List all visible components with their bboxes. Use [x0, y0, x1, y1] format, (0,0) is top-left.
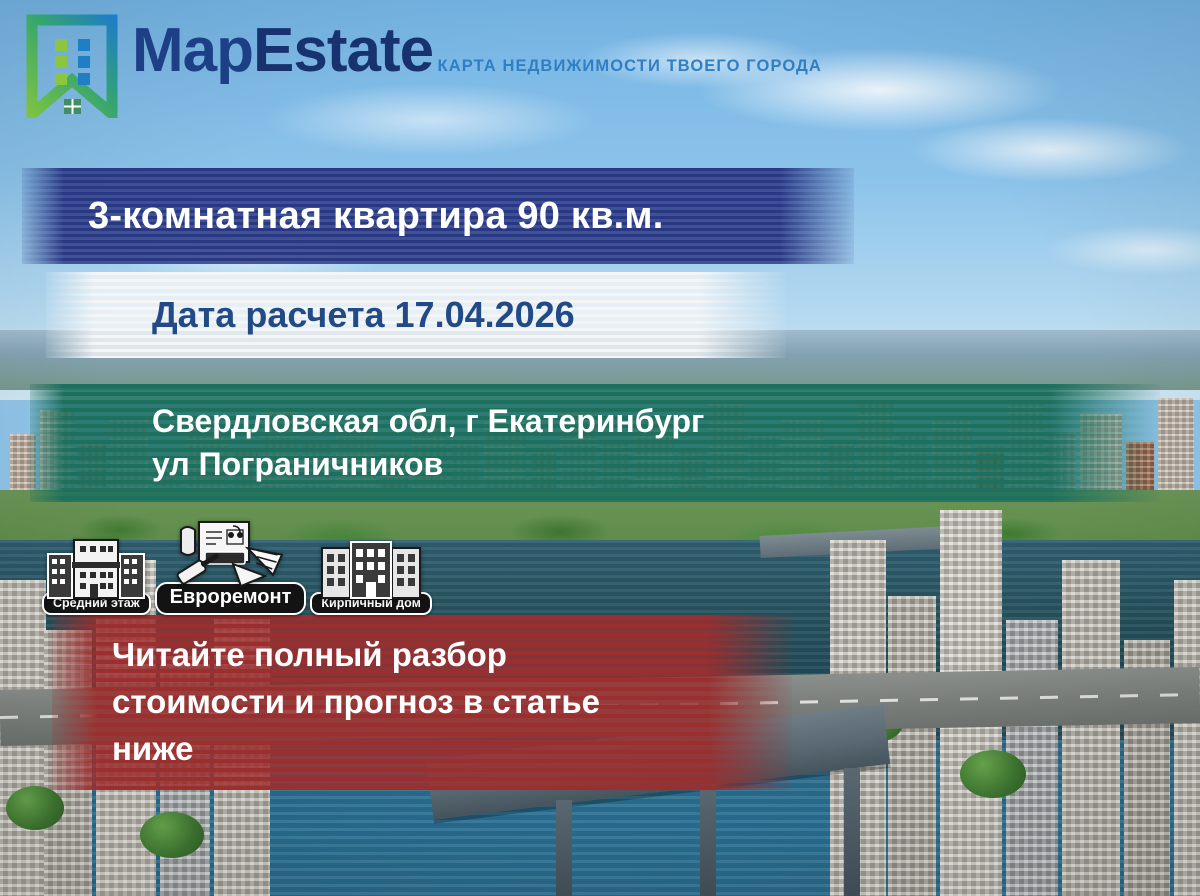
promo-card: MapEstate КАРТА НЕДВИЖИМОСТИ ТВОЕГО ГОРО…: [0, 0, 1200, 896]
badge-renovation[interactable]: Евроремонт: [155, 518, 307, 615]
cta-banner-text: Читайте полный разбор стоимости и прогно…: [112, 632, 600, 773]
rooms-banner-text: 3-комнатная квартира 90 кв.м.: [88, 195, 663, 238]
bookmark-building-icon: [26, 14, 118, 123]
badge-brick-house[interactable]: Кирпичный дом: [310, 536, 431, 615]
feature-badges: Средний этаж: [42, 518, 432, 615]
brand-logo[interactable]: MapEstate КАРТА НЕДВИЖИМОСТИ ТВОЕГО ГОРО…: [26, 14, 822, 123]
address-banner: Свердловская обл, г Екатеринбург ул Погр…: [30, 384, 1160, 502]
address-banner-text: Свердловская обл, г Екатеринбург ул Погр…: [152, 400, 704, 486]
brand-name-part2: Estate: [253, 16, 433, 85]
cta-banner: Читайте полный разбор стоимости и прогно…: [52, 615, 792, 790]
rooms-banner: 3-комнатная квартира 90 кв.м.: [22, 168, 854, 264]
brick-house-icon: [319, 536, 423, 602]
brand-name-part1: Map: [132, 16, 253, 85]
renovation-tools-icon: [173, 518, 289, 592]
date-banner: Дата расчета 17.04.2026: [46, 272, 786, 358]
brand-name: MapEstate: [132, 16, 433, 85]
date-banner-text: Дата расчета 17.04.2026: [152, 294, 575, 336]
brand-tagline: КАРТА НЕДВИЖИМОСТИ ТВОЕГО ГОРОДА: [438, 57, 822, 75]
badge-mid-floor[interactable]: Средний этаж: [42, 536, 151, 615]
mid-floor-building-icon: [45, 536, 147, 602]
